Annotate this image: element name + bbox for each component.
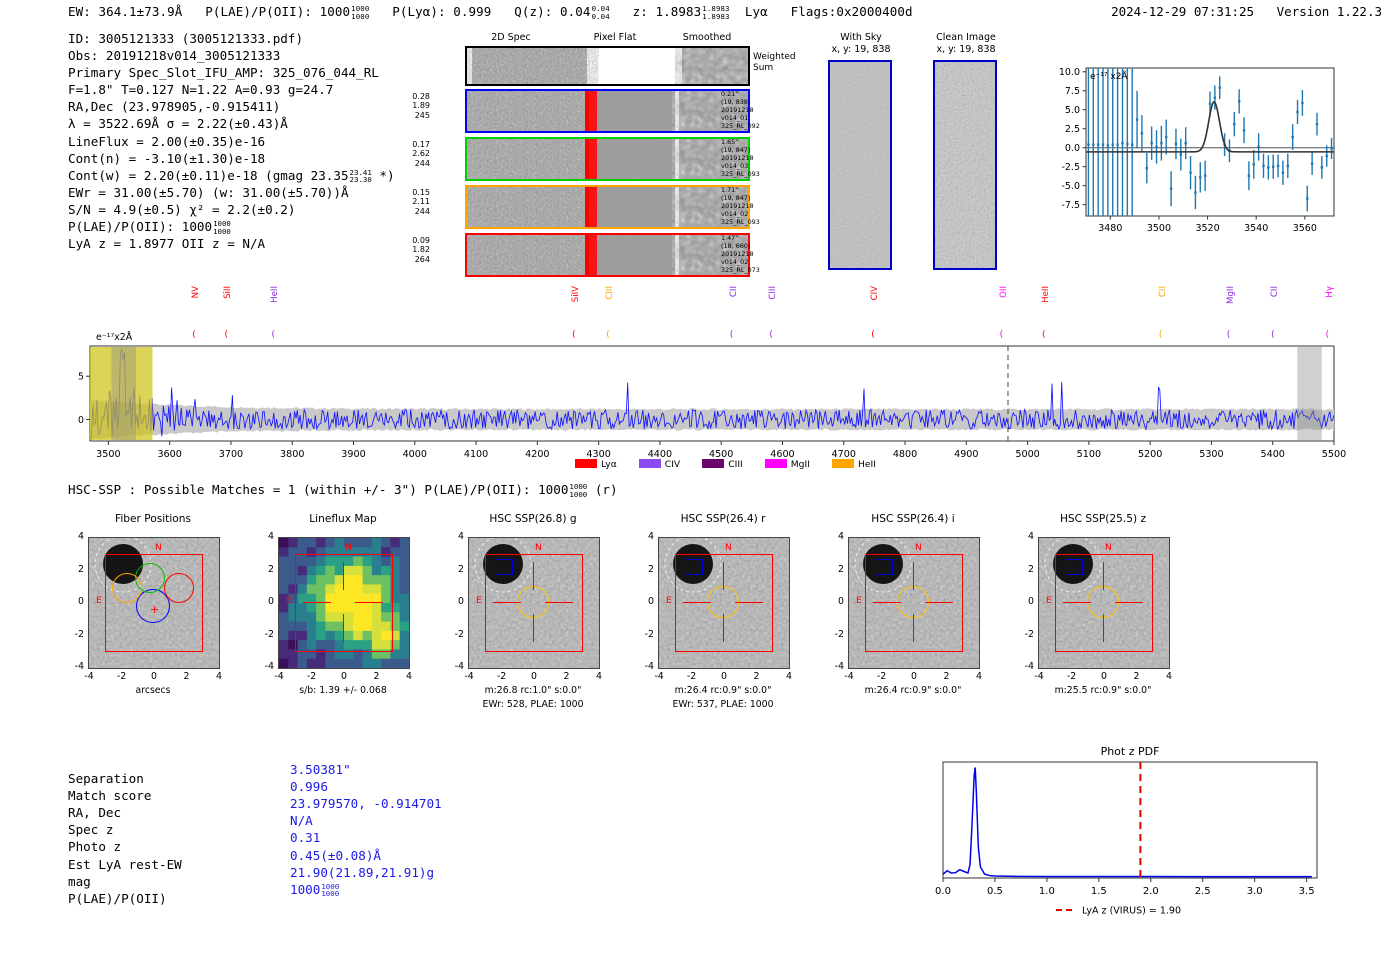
emission-line-bracket: ( (1042, 330, 1046, 340)
svg-text:-2.5: -2.5 (1061, 162, 1080, 173)
info-lambda-sigma: λ = 3522.69Å σ = 2.22(±0.43)Å (68, 115, 395, 132)
crosshair-h (1063, 602, 1091, 603)
emission-line-bracket: ( (1227, 330, 1231, 340)
crosshair-h (683, 602, 711, 603)
header-plya: P(Lyα): 0.999 (392, 4, 491, 19)
svg-text:3560: 3560 (1293, 223, 1317, 234)
cutout-title: HSC SSP(26.8) g (434, 513, 632, 525)
hsc-summary-line: HSC-SSP : Possible Matches = 1 (within +… (68, 482, 618, 498)
fiber-row (465, 185, 750, 229)
svg-text:4200: 4200 (525, 449, 549, 460)
info-plae-frac: 10001000 (213, 220, 231, 235)
legend-label: CIII (728, 459, 743, 470)
svg-text:5000: 5000 (1015, 449, 1039, 460)
fiber-meta: 325_RL_093 (721, 218, 781, 226)
cutout-xtick: 0 (906, 671, 922, 682)
svg-text:-5.0: -5.0 (1061, 181, 1080, 192)
emission-line-bracket: ( (1271, 330, 1275, 340)
match-label: RA, Dec (68, 804, 121, 821)
header-qz: Q(z): 0.04 (514, 4, 590, 19)
cutout-xtick: -4 (1031, 671, 1047, 682)
emission-line-bracket: ( (1000, 330, 1004, 340)
compass-north: N (535, 543, 542, 553)
crosshair-v (1103, 562, 1104, 590)
phot-z-pdf-chart: Phot z PDF0.00.51.01.52.02.53.03.5LyA z … (935, 740, 1325, 910)
legend-item: CIV (639, 459, 680, 470)
crosshair-right (355, 602, 383, 603)
crosshair-h (1115, 602, 1143, 603)
hsc-summary-frac: 10001000 (569, 483, 587, 498)
fiber-right-meta: 0.21"(19, 838)20191218v014_01325_RL_092 (721, 90, 781, 130)
header-z: z: 1.8983 (633, 4, 702, 19)
svg-text:4100: 4100 (464, 449, 488, 460)
cutout-xtick: 4 (781, 671, 797, 682)
svg-text:3.0: 3.0 (1247, 886, 1263, 897)
svg-text:0.5: 0.5 (987, 886, 1003, 897)
crosshair-h (493, 602, 521, 603)
cutout-ytick: 0 (258, 596, 274, 607)
fiber-meta: (19, 847) (721, 146, 781, 154)
svg-text:2.5: 2.5 (1065, 124, 1080, 135)
cutout-xtick: -2 (874, 671, 890, 682)
match-value: 3.50381" (290, 761, 351, 778)
svg-text:5: 5 (78, 372, 84, 383)
crosshair-h (735, 602, 763, 603)
info-redshifts: LyA z = 1.8977 OII z = N/A (68, 235, 395, 252)
info-primary-spec: Primary Spec_Slot_IFU_AMP: 325_076_044_R… (68, 64, 395, 81)
cutout-ytick: -4 (258, 661, 274, 672)
cutout-ytick: -4 (828, 661, 844, 672)
with-sky-title: With Sky (820, 32, 902, 43)
legend-swatch (765, 459, 787, 468)
fiber-meta: 20191218 (721, 106, 781, 114)
match-value: N/A (290, 812, 313, 829)
svg-text:3.5: 3.5 (1299, 886, 1315, 897)
compass-east: E (856, 596, 862, 606)
match-value: 0.996 (290, 778, 328, 795)
emission-line-label: SiII (223, 286, 233, 299)
cutout-xtick: -4 (81, 671, 97, 682)
crosshair-v (913, 562, 914, 590)
weighted-sum-image (465, 46, 750, 86)
emission-line-bracket: ( (871, 330, 875, 340)
crosshair-bottom (343, 614, 344, 642)
svg-text:Phot z PDF: Phot z PDF (1101, 745, 1160, 758)
fiber-stat: 1.82 (400, 245, 430, 254)
fiber-meta: (19, 847) (721, 194, 781, 202)
cutout-xtick: -4 (461, 671, 477, 682)
title-pixel-flat: Pixel Flat (570, 32, 660, 43)
fiber-stat: 245 (400, 111, 430, 120)
fiber-stat: 0.09 (400, 236, 430, 245)
cutout-panel: HSC SSP(26.8) gNE-4-2024420-2-4m:26.8 rc… (446, 515, 626, 715)
svg-text:3500: 3500 (96, 449, 120, 460)
svg-text:5300: 5300 (1199, 449, 1223, 460)
cutout-ytick: 2 (258, 564, 274, 575)
fiber-left-stats: 0.091.82264 (400, 236, 430, 264)
cutout-ytick: -4 (1018, 661, 1034, 672)
fiber-meta: v014_02 (721, 210, 781, 218)
fiber-circle (164, 573, 194, 603)
header-plae-frac: 10001000 (351, 5, 369, 20)
weighted-sum-label: Weighted Sum (753, 52, 796, 74)
svg-text:2.5: 2.5 (1195, 886, 1211, 897)
emission-line-bracket: ( (730, 330, 734, 340)
cutout-ytick: -2 (828, 629, 844, 640)
svg-text:5400: 5400 (1261, 449, 1285, 460)
compass-north: N (345, 543, 352, 553)
cutout-ytick: 0 (68, 596, 84, 607)
emission-line-label: HeII (1041, 286, 1051, 303)
svg-text:e⁻¹⁷ x2Å: e⁻¹⁷ x2Å (1090, 70, 1128, 82)
cutout-ytick: 2 (1018, 564, 1034, 575)
emission-line-bracket: ( (1159, 330, 1163, 340)
svg-text:10.0: 10.0 (1059, 67, 1080, 78)
svg-text:4000: 4000 (403, 449, 427, 460)
cutout-xtick: 0 (1096, 671, 1112, 682)
fiber-meta: (19, 838) (721, 98, 781, 106)
emission-line-bracket: ( (606, 330, 610, 340)
cutout-panel: HSC SSP(26.4) iNE-4-2024420-2-4m:26.4 rc… (826, 515, 1006, 715)
crosshair-v (723, 614, 724, 642)
cutout-ytick: 0 (638, 596, 654, 607)
header-summary-line: EW: 364.1±73.9Å P(LAE)/P(OII): 100010001… (68, 4, 913, 20)
catalog-marker (495, 559, 513, 575)
svg-text:5200: 5200 (1138, 449, 1162, 460)
fiber-left-stats: 0.152.11244 (400, 188, 430, 216)
cutout-ytick: 2 (68, 564, 84, 575)
emission-line-fit-chart: 34803500352035403560-7.5-5.0-2.50.02.55.… (1040, 58, 1340, 248)
info-cont-w-text: Cont(w) = 2.20(±0.11)e-18 (gmag 23.35 (68, 168, 349, 183)
fiber-row (465, 89, 750, 133)
info-cont-w-post: *) (379, 168, 394, 183)
cutout-ytick: 2 (828, 564, 844, 575)
info-plae: P(LAE)/P(OII): 100010001000 (68, 218, 395, 235)
fiber-stat: 264 (400, 255, 430, 264)
svg-text:e⁻¹⁷x2Å: e⁻¹⁷x2Å (96, 331, 133, 343)
cutout-ytick: 4 (448, 531, 464, 542)
cutout-ytick: 0 (828, 596, 844, 607)
svg-text:3520: 3520 (1195, 223, 1219, 234)
with-sky-xy: x, y: 19, 838 (820, 44, 902, 55)
cutout-ytick: 2 (448, 564, 464, 575)
crosshair-h (545, 602, 573, 603)
svg-text:0.0: 0.0 (1065, 143, 1080, 154)
svg-text:3480: 3480 (1098, 223, 1122, 234)
source-info-block: ID: 3005121333 (3005121333.pdf) Obs: 201… (68, 30, 395, 252)
svg-text:3900: 3900 (341, 449, 365, 460)
emission-line-bracket: ( (1326, 330, 1330, 340)
compass-north: N (725, 543, 732, 553)
cutout-ytick: 4 (828, 531, 844, 542)
crosshair-left (303, 602, 331, 603)
match-value: 21.90(21.89,21.91)g (290, 864, 434, 881)
crosshair-h (925, 602, 953, 603)
match-value: 23.979570, -0.914701 (290, 795, 442, 812)
fiber-stat: 2.11 (400, 197, 430, 206)
fiber-left-stats: 0.172.62244 (400, 140, 430, 168)
legend-item: CIII (702, 459, 743, 470)
emission-line-label: CIII (605, 286, 615, 300)
catalog-marker (875, 559, 893, 575)
fiber-meta: 0.21" (721, 90, 781, 98)
crosshair-v (723, 562, 724, 590)
clean-image-image (933, 60, 997, 270)
cutout-ytick: 2 (638, 564, 654, 575)
header-datestamp: 2024-12-29 07:31:25 (1111, 4, 1254, 19)
emission-line-label: HeII (270, 286, 280, 303)
cutout-xtick: 0 (146, 671, 162, 682)
fiber-meta: 325_RL_092 (721, 122, 781, 130)
info-ewr: EWr = 31.00(±5.70) (w: 31.00(±5.70))Å (68, 184, 395, 201)
header-timestamp-version: 2024-12-29 07:31:25 Version 1.22.3 (1111, 4, 1382, 19)
emission-line-label: CII (1270, 286, 1280, 297)
fiber-meta: 1.71" (721, 186, 781, 194)
cutout-xtick: -2 (494, 671, 510, 682)
svg-text:5500: 5500 (1322, 449, 1346, 460)
cutout-sub1: m:26.4 rc:0.9" s:0.0" (633, 685, 813, 696)
emission-line-label: OII (999, 286, 1009, 298)
legend-label: MgII (791, 459, 810, 470)
match-label: mag (68, 873, 91, 890)
svg-text:3540: 3540 (1244, 223, 1268, 234)
title-smoothed: Smoothed (662, 32, 752, 43)
emission-line-label: SiIV (571, 286, 581, 302)
cutout-ytick: 0 (1018, 596, 1034, 607)
info-obs: Obs: 20191218v014_3005121333 (68, 47, 395, 64)
compass-north: N (1105, 543, 1112, 553)
match-label: Separation (68, 770, 144, 787)
svg-text:5.0: 5.0 (1065, 105, 1080, 116)
header-ew: EW: 364.1±73.9Å (68, 4, 182, 19)
fiber-stat: 0.15 (400, 188, 430, 197)
catalog-marker (1065, 559, 1083, 575)
fiber-row (465, 233, 750, 277)
emission-line-label: CIII (768, 286, 778, 300)
crosshair-v (1103, 614, 1104, 642)
fiber-stat: 2.62 (400, 149, 430, 158)
cutout-xtick: 2 (559, 671, 575, 682)
fiber-meta: 325_RL_073 (721, 266, 781, 274)
cutout-xtick: 2 (939, 671, 955, 682)
emission-line-label: CII (1158, 286, 1168, 297)
compass-north: N (155, 543, 162, 553)
crosshair-v (913, 614, 914, 642)
cutout-sub1: m:26.8 rc:1.0" s:0.0" (443, 685, 623, 696)
crosshair-h (873, 602, 901, 603)
cutout-xtick: -4 (651, 671, 667, 682)
svg-text:1.5: 1.5 (1091, 886, 1107, 897)
full-spectrum-chart: 0535003600370038003900400041004200430044… (68, 300, 1338, 475)
svg-text:7.5: 7.5 (1065, 86, 1080, 97)
info-cont-w: Cont(w) = 2.20(±0.11)e-18 (gmag 23.3523.… (68, 167, 395, 184)
emission-line-label: CII (729, 286, 739, 297)
cutout-xtick: -2 (304, 671, 320, 682)
compass-east: E (666, 596, 672, 606)
svg-text:-7.5: -7.5 (1061, 200, 1080, 211)
fiber-meta: v014_03 (721, 162, 781, 170)
cutout-xtick: 4 (211, 671, 227, 682)
cutout-xtick: 4 (401, 671, 417, 682)
svg-text:3500: 3500 (1147, 223, 1171, 234)
crosshair-v (533, 614, 534, 642)
match-label: Photo z (68, 838, 121, 855)
cutout-xtick: 4 (591, 671, 607, 682)
emission-line-label: NV (191, 286, 201, 298)
fiber-stat: 0.28 (400, 92, 430, 101)
legend-label: CIV (665, 459, 680, 470)
cutout-xtick: 2 (179, 671, 195, 682)
cutout-sub2: EWr: 528, PLAE: 1000 (443, 699, 623, 710)
cutout-title: Fiber Positions (54, 513, 252, 525)
info-radec: RA,Dec (23.978905,-0.915411) (68, 98, 395, 115)
fiber-right-meta: 1.65"(19, 847)20191218v014_03325_RL_093 (721, 138, 781, 178)
fiber-left-stats: 0.281.89245 (400, 92, 430, 120)
fiber-circle (112, 573, 142, 603)
match-plae-frac: 10001000 (321, 883, 339, 898)
emission-line-label: CIV (870, 286, 880, 300)
compass-north: N (915, 543, 922, 553)
cutout-ytick: -2 (258, 629, 274, 640)
info-lineflux: LineFlux = 2.00(±0.35)e-16 (68, 133, 395, 150)
cutout-xtick: 4 (971, 671, 987, 682)
match-label: P(LAE)/P(OII) (68, 890, 167, 907)
compass-east: E (1046, 596, 1052, 606)
legend-item: HeII (832, 459, 876, 470)
cutout-xtick: 0 (526, 671, 542, 682)
cutout-ytick: -4 (68, 661, 84, 672)
match-value: 100010001000 (290, 881, 339, 898)
cutout-xtick: 2 (1129, 671, 1145, 682)
cutout-ytick: -2 (1018, 629, 1034, 640)
fiber-stat: 244 (400, 159, 430, 168)
cutout-sub1: m:25.5 rc:0.9" s:0.0" (1013, 685, 1193, 696)
fiber-stat: 0.17 (400, 140, 430, 149)
fiber-meta: 1.65" (721, 138, 781, 146)
legend-swatch (575, 459, 597, 468)
cutout-sub1: m:26.4 rc:0.9" s:0.0" (823, 685, 1003, 696)
clean-image-xy: x, y: 19, 838 (925, 44, 1007, 55)
fiber-stat: 244 (400, 207, 430, 216)
emission-line-bracket: ( (271, 330, 275, 340)
cutout-xtick: 0 (336, 671, 352, 682)
cutout-panel: Fiber Positions+NE-4-2024420-2-4arcsecs (66, 515, 246, 715)
info-plae-text: P(LAE)/P(OII): 1000 (68, 219, 212, 234)
cutout-ytick: -4 (638, 661, 654, 672)
info-id: ID: 3005121333 (3005121333.pdf) (68, 30, 395, 47)
cutout-xtick: 4 (1161, 671, 1177, 682)
crosshair-top (343, 562, 344, 590)
svg-text:2.0: 2.0 (1143, 886, 1159, 897)
info-sn-chi2: S/N = 4.9(±0.5) χ² = 2.2(±0.2) (68, 201, 395, 218)
emission-line-label: Hγ (1325, 286, 1335, 298)
legend-item: Lyα (575, 459, 617, 470)
legend-item: MgII (765, 459, 810, 470)
svg-text:3700: 3700 (219, 449, 243, 460)
cutout-xtick: -2 (114, 671, 130, 682)
cutout-xlabel: s/b: 1.39 +/- 0.068 (253, 685, 433, 696)
hsc-summary-text: HSC-SSP : Possible Matches = 1 (within +… (68, 482, 568, 497)
legend-swatch (639, 459, 661, 468)
center-marker: + (150, 603, 159, 616)
clean-image-title: Clean Image (925, 32, 1007, 43)
header-z-frac: 1.89831.8983 (702, 5, 729, 20)
cutout-ytick: 0 (448, 596, 464, 607)
cutout-xtick: -2 (684, 671, 700, 682)
fiber-meta: 1.47" (721, 234, 781, 242)
svg-text:0: 0 (78, 415, 84, 426)
cutout-title: HSC SSP(26.4) i (814, 513, 1012, 525)
header-plae: P(LAE)/P(OII): 1000 (205, 4, 350, 19)
fiber-meta: 20191218 (721, 202, 781, 210)
emission-line-bracket: ( (572, 330, 576, 340)
fiber-meta: v014_02 (721, 258, 781, 266)
compass-east: E (286, 596, 292, 606)
cutout-title: HSC SSP(26.4) r (624, 513, 822, 525)
compass-east: E (96, 596, 102, 606)
fiber-stat: 1.89 (400, 101, 430, 110)
match-value: 0.45(±0.08)Å (290, 847, 381, 864)
info-cont-w-frac: 23.4123.30 (350, 169, 372, 184)
cutout-ytick: -2 (638, 629, 654, 640)
emission-line-bracket: ( (192, 330, 196, 340)
match-label: Match score (68, 787, 151, 804)
svg-text:4900: 4900 (954, 449, 978, 460)
svg-text:3600: 3600 (157, 449, 181, 460)
cutout-ytick: 4 (258, 531, 274, 542)
fiber-meta: v014_01 (721, 114, 781, 122)
title-2d-spec: 2D Spec (466, 32, 556, 43)
fiber-meta: 20191218 (721, 250, 781, 258)
emission-line-label: MgII (1226, 286, 1236, 304)
cutout-ytick: -2 (448, 629, 464, 640)
fiber-right-meta: 1.71"(19, 847)20191218v014_02325_RL_093 (721, 186, 781, 226)
cutout-xtick: -4 (841, 671, 857, 682)
emission-line-bracket: ( (769, 330, 773, 340)
with-sky-image (828, 60, 892, 270)
cutout-title: Lineflux Map (244, 513, 442, 525)
fiber-right-meta: 1.47"(18, 660)20191218v014_02325_RL_073 (721, 234, 781, 274)
header-qz-frac: 0.040.04 (592, 5, 610, 20)
cutout-panel: HSC SSP(25.5) zNE-4-2024420-2-4m:25.5 rc… (1016, 515, 1196, 715)
hsc-summary-post: (r) (595, 482, 618, 497)
header-version: Version 1.22.3 (1277, 4, 1382, 19)
header-line-name: Lyα (745, 4, 768, 19)
fiber-row (465, 137, 750, 181)
svg-text:LyA z (VIRUS) = 1.90: LyA z (VIRUS) = 1.90 (1082, 906, 1181, 917)
legend-swatch (702, 459, 724, 468)
match-label: Spec z (68, 821, 114, 838)
cutout-ytick: 4 (638, 531, 654, 542)
crosshair-v (533, 562, 534, 590)
match-label: Est LyA rest-EW (68, 856, 182, 873)
cutout-xtick: -2 (1064, 671, 1080, 682)
cutout-xtick: 2 (749, 671, 765, 682)
legend-swatch (832, 459, 854, 468)
header-flags: Flags:0x2000400d (791, 4, 913, 19)
fiber-meta: 325_RL_093 (721, 170, 781, 178)
legend-label: HeII (858, 459, 876, 470)
cutout-ytick: -4 (448, 661, 464, 672)
cutout-ytick: -2 (68, 629, 84, 640)
match-value: 0.31 (290, 829, 320, 846)
cutout-ytick: 4 (1018, 531, 1034, 542)
info-cont-n: Cont(n) = -3.10(±1.30)e-18 (68, 150, 395, 167)
cutout-sub2: EWr: 537, PLAE: 1000 (633, 699, 813, 710)
info-seeing: F=1.8" T=0.127 N=1.22 A=0.93 g=24.7 (68, 81, 395, 98)
fiber-meta: (18, 660) (721, 242, 781, 250)
spec2d-panel-group: 2D Spec Pixel Flat Smoothed Weighted Sum… (432, 32, 762, 252)
